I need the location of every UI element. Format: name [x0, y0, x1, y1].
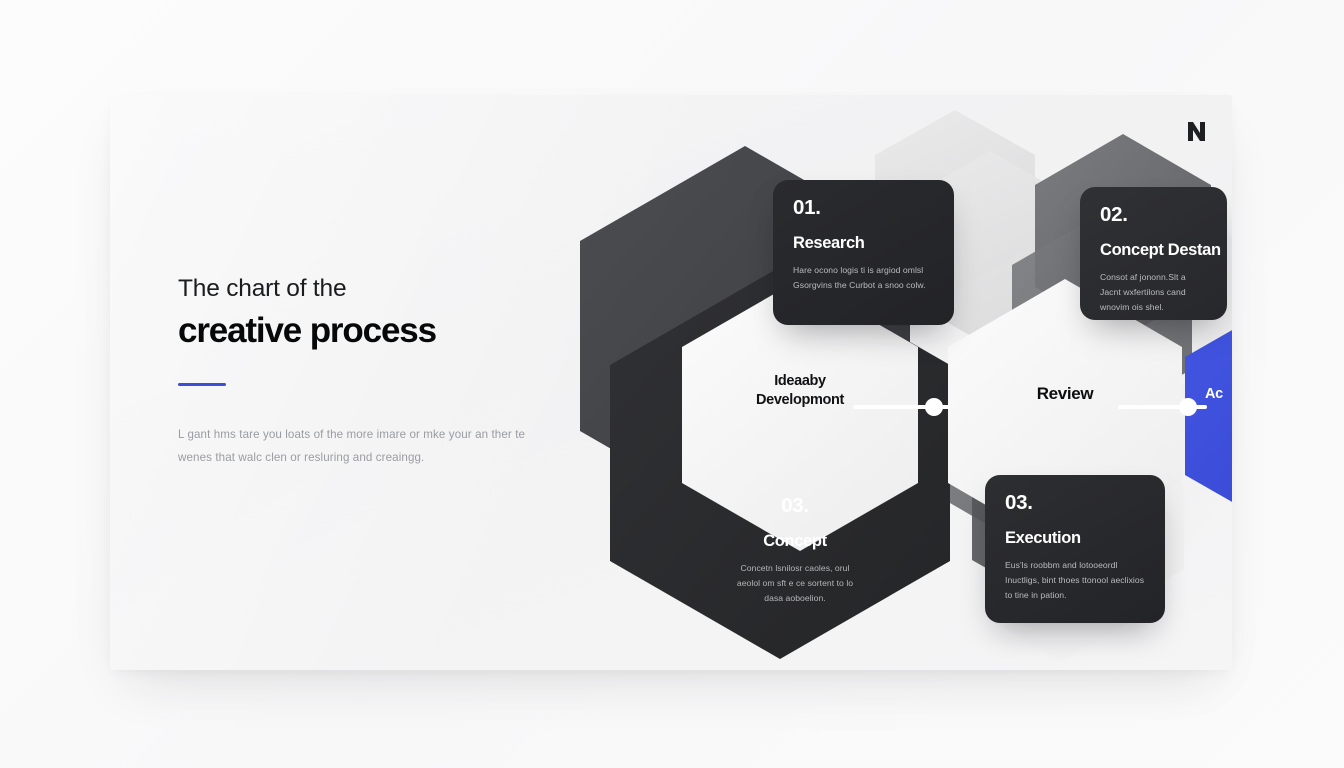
step-title: Concept Destan	[1100, 241, 1207, 259]
step-description: Eus'ls roobbm and lotooeordl Inuctligs, …	[1005, 558, 1145, 604]
step-description: Consot af jononn.Slt a Jacnt wxfertilons…	[1100, 270, 1207, 316]
step-number: 03.	[730, 496, 860, 517]
slide-text-block: The chart of the creative process L gant…	[178, 275, 538, 469]
step-card-concept[interactable]: 03. Concept Concetn lsnilosr caoles, oru…	[710, 478, 880, 626]
step-card-execution[interactable]: 03. Execution Eus'ls roobbm and lotooeor…	[985, 475, 1165, 623]
step-title: Execution	[1005, 529, 1145, 547]
step-number: 01.	[793, 198, 934, 219]
step-title: Concept	[730, 532, 860, 550]
step-description: Hare ocono logis ti is argiod omlsl Gsor…	[793, 263, 934, 294]
connector-node-2	[1179, 398, 1197, 416]
accent-underline	[178, 383, 226, 386]
hexagon-label-idea-development: Ideaaby Developmont	[715, 372, 885, 410]
slide-eyebrow: The chart of the	[178, 275, 538, 304]
page-background: Ideaaby Developmont Review Ac 01. Resear…	[0, 0, 1344, 768]
step-card-concept-design[interactable]: 02. Concept Destan Consot af jononn.Slt …	[1080, 187, 1227, 320]
page-title: creative process	[178, 311, 538, 350]
connector-node-1	[925, 398, 943, 416]
hexagon-label-review: Review	[980, 383, 1150, 405]
step-card-research[interactable]: 01. Research Hare ocono logis ti is argi…	[773, 180, 954, 325]
hexagon-label-idea-line1: Ideaaby	[715, 372, 885, 391]
presentation-slide: Ideaaby Developmont Review Ac 01. Resear…	[110, 95, 1232, 670]
brand-mark-logo	[1187, 121, 1206, 142]
step-description: Concetn lsnilosr caoles, orul aeolol om …	[730, 561, 860, 607]
step-number: 03.	[1005, 493, 1145, 514]
hexagon-label-idea-line2: Developmont	[715, 391, 885, 410]
step-number: 02.	[1100, 205, 1207, 226]
step-title: Research	[793, 234, 934, 252]
hexagon-label-action: Ac	[1205, 385, 1232, 404]
slide-blurb: L gant hms tare you loats of the more im…	[178, 423, 538, 469]
